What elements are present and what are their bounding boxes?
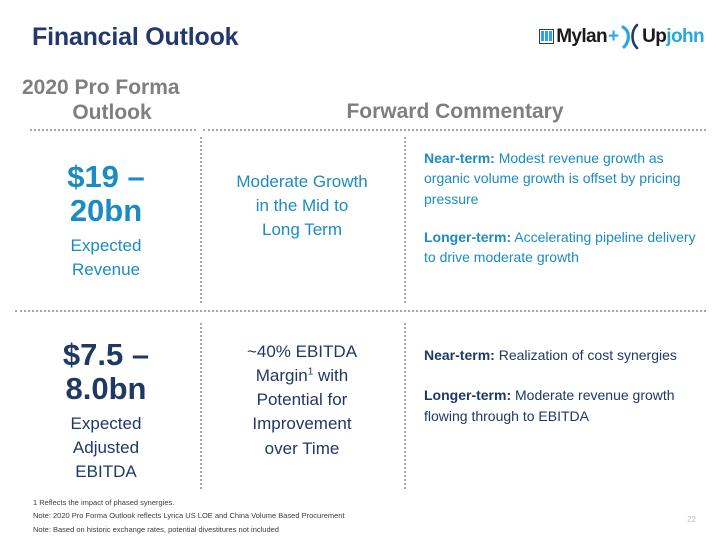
footnote-3: Note: Based on historic exchange rates, …	[33, 523, 345, 536]
row1-commentary-near-term: Near-term: Modest revenue growth as orga…	[424, 148, 696, 209]
row2-middle-line2-post: with	[313, 366, 348, 385]
row1-column-divider-right	[404, 137, 406, 303]
logo-word-up: Up	[642, 27, 666, 46]
row2-middle-line5: over Time	[206, 437, 398, 461]
column-header-outlook: 2020 Pro Forma Outlook	[22, 76, 202, 126]
row2-middle-line1: ~40% EBITDA	[206, 340, 398, 364]
row-divider	[15, 310, 706, 312]
row1-commentary: Near-term: Modest revenue growth as orga…	[424, 148, 696, 267]
row2-commentary: Near-term: Realization of cost synergies…	[424, 345, 696, 426]
row1-figure-line2: 20bn	[18, 194, 194, 228]
page-number: 22	[687, 515, 696, 524]
row1-middle-line1: Moderate Growth	[206, 170, 398, 194]
header-divider-left	[30, 129, 196, 131]
row2-middle-line2-pre: Margin	[256, 366, 308, 385]
row2-middle-line4: Improvement	[206, 412, 398, 436]
mylan-upjohn-logo: Mylan + Up john	[539, 22, 704, 50]
row2-column-divider-left	[200, 323, 202, 489]
page-title: Financial Outlook	[32, 24, 238, 52]
row1-figure: $19 – 20bn Expected Revenue	[18, 160, 194, 281]
row2-figure: $7.5 – 8.0bn Expected Adjusted EBITDA	[18, 338, 194, 485]
column-header-outlook-line2: Outlook	[22, 101, 202, 126]
logo-plus-icon: +	[608, 27, 619, 46]
row1-commentary-longer-term: Longer-term: Accelerating pipeline deliv…	[424, 227, 696, 268]
row1-column-divider-left	[200, 137, 202, 303]
row1-commentary-longer-term-lead: Longer-term:	[424, 229, 511, 245]
logo-word-john: john	[666, 27, 704, 46]
row2-figure-label-line2: Adjusted	[18, 436, 194, 460]
row2-middle-line2: Margin1 with	[206, 364, 398, 388]
logo-word-mylan: Mylan	[556, 27, 607, 46]
row1-middle-line3: Long Term	[206, 218, 398, 242]
row2-middle-text: ~40% EBITDA Margin1 with Potential for I…	[206, 340, 398, 461]
row2-commentary-near-term: Near-term: Realization of cost synergies	[424, 345, 696, 365]
row1-middle-text: Moderate Growth in the Mid to Long Term	[206, 170, 398, 242]
row1-commentary-near-term-lead: Near-term:	[424, 150, 495, 166]
column-header-commentary: Forward Commentary	[205, 100, 705, 125]
header-divider-right	[203, 129, 706, 131]
row2-figure-label-line3: EBITDA	[18, 460, 194, 484]
row2-commentary-near-term-text: Realization of cost synergies	[495, 347, 677, 363]
mylan-bars-icon	[539, 29, 554, 44]
row2-figure-label-line1: Expected	[18, 412, 194, 436]
column-header-outlook-line1: 2020 Pro Forma	[22, 76, 202, 101]
row1-figure-line1: $19 –	[18, 160, 194, 194]
row1-figure-label-line1: Expected	[18, 234, 194, 257]
footnote-1: 1 Reflects the impact of phased synergie…	[33, 496, 345, 509]
row2-commentary-longer-term: Longer-term: Moderate revenue growth flo…	[424, 385, 696, 426]
row2-column-divider-right	[404, 323, 406, 489]
footnotes: 1 Reflects the impact of phased synergie…	[33, 496, 345, 536]
row1-figure-label-line2: Revenue	[18, 258, 194, 281]
row2-commentary-longer-term-lead: Longer-term:	[424, 387, 511, 403]
row1-middle-line2: in the Mid to	[206, 194, 398, 218]
row2-middle-line3: Potential for	[206, 388, 398, 412]
footnote-2: Note: 2020 Pro Forma Outlook reflects Ly…	[33, 509, 345, 522]
row2-figure-line1: $7.5 –	[18, 338, 194, 372]
row2-figure-line2: 8.0bn	[18, 372, 194, 406]
upjohn-swoosh-icon	[621, 22, 641, 50]
row2-commentary-near-term-lead: Near-term:	[424, 347, 495, 363]
